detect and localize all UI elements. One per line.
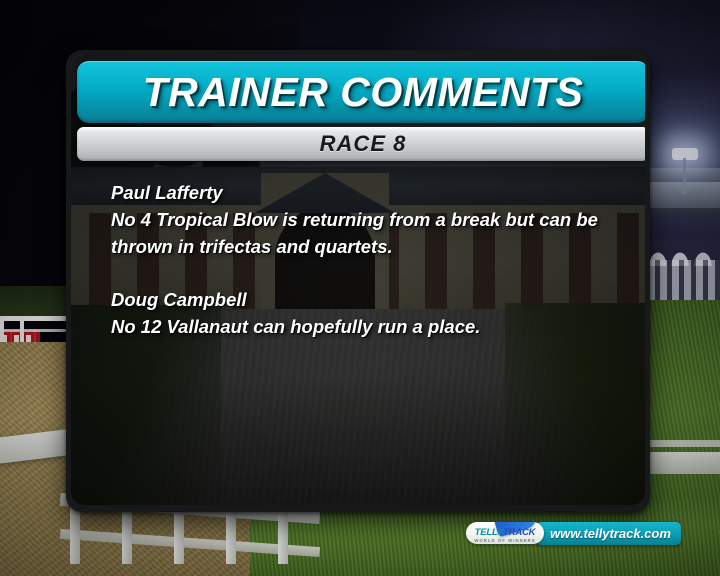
page-title: TRAINER COMMENTS [143, 69, 584, 116]
list-item: Paul Lafferty No 4 Tropical Blow is retu… [111, 179, 623, 260]
race-label: RACE 8 [320, 131, 407, 157]
trainer-comment-text: No 12 Vallanaut can hopefully run a plac… [111, 313, 623, 340]
logo-word-track: TRACK [503, 527, 535, 538]
tellytrack-logo[interactable]: TELLYTRACK WORLD OF WINNERS [466, 522, 544, 544]
list-item: Doug Campbell No 12 Vallanaut can hopefu… [111, 286, 623, 340]
screenshot-root: TRAINER COMMENTS RACE 8 Paul Lafferty No… [0, 0, 720, 576]
title-bar: TRAINER COMMENTS [77, 61, 645, 123]
website-url: www.tellytrack.com [550, 526, 671, 541]
website-url-bar[interactable]: www.tellytrack.com [536, 522, 681, 545]
trainer-name: Doug Campbell [111, 286, 623, 313]
logo-tagline: WORLD OF WINNERS [466, 538, 544, 543]
branding-watermark: TELLYTRACK WORLD OF WINNERS www.tellytra… [466, 519, 660, 547]
logo-word-telly: TELLY [475, 527, 503, 538]
trainer-comment-text: No 4 Tropical Blow is returning from a b… [111, 206, 623, 260]
logo-wordmark: TELLYTRACK [475, 528, 536, 538]
comments-list: Paul Lafferty No 4 Tropical Blow is retu… [111, 179, 623, 340]
card-inner: TRAINER COMMENTS RACE 8 Paul Lafferty No… [71, 55, 645, 505]
trainer-name: Paul Lafferty [111, 179, 623, 206]
race-bar: RACE 8 [77, 127, 645, 161]
trainer-comments-card: TRAINER COMMENTS RACE 8 Paul Lafferty No… [66, 50, 650, 512]
